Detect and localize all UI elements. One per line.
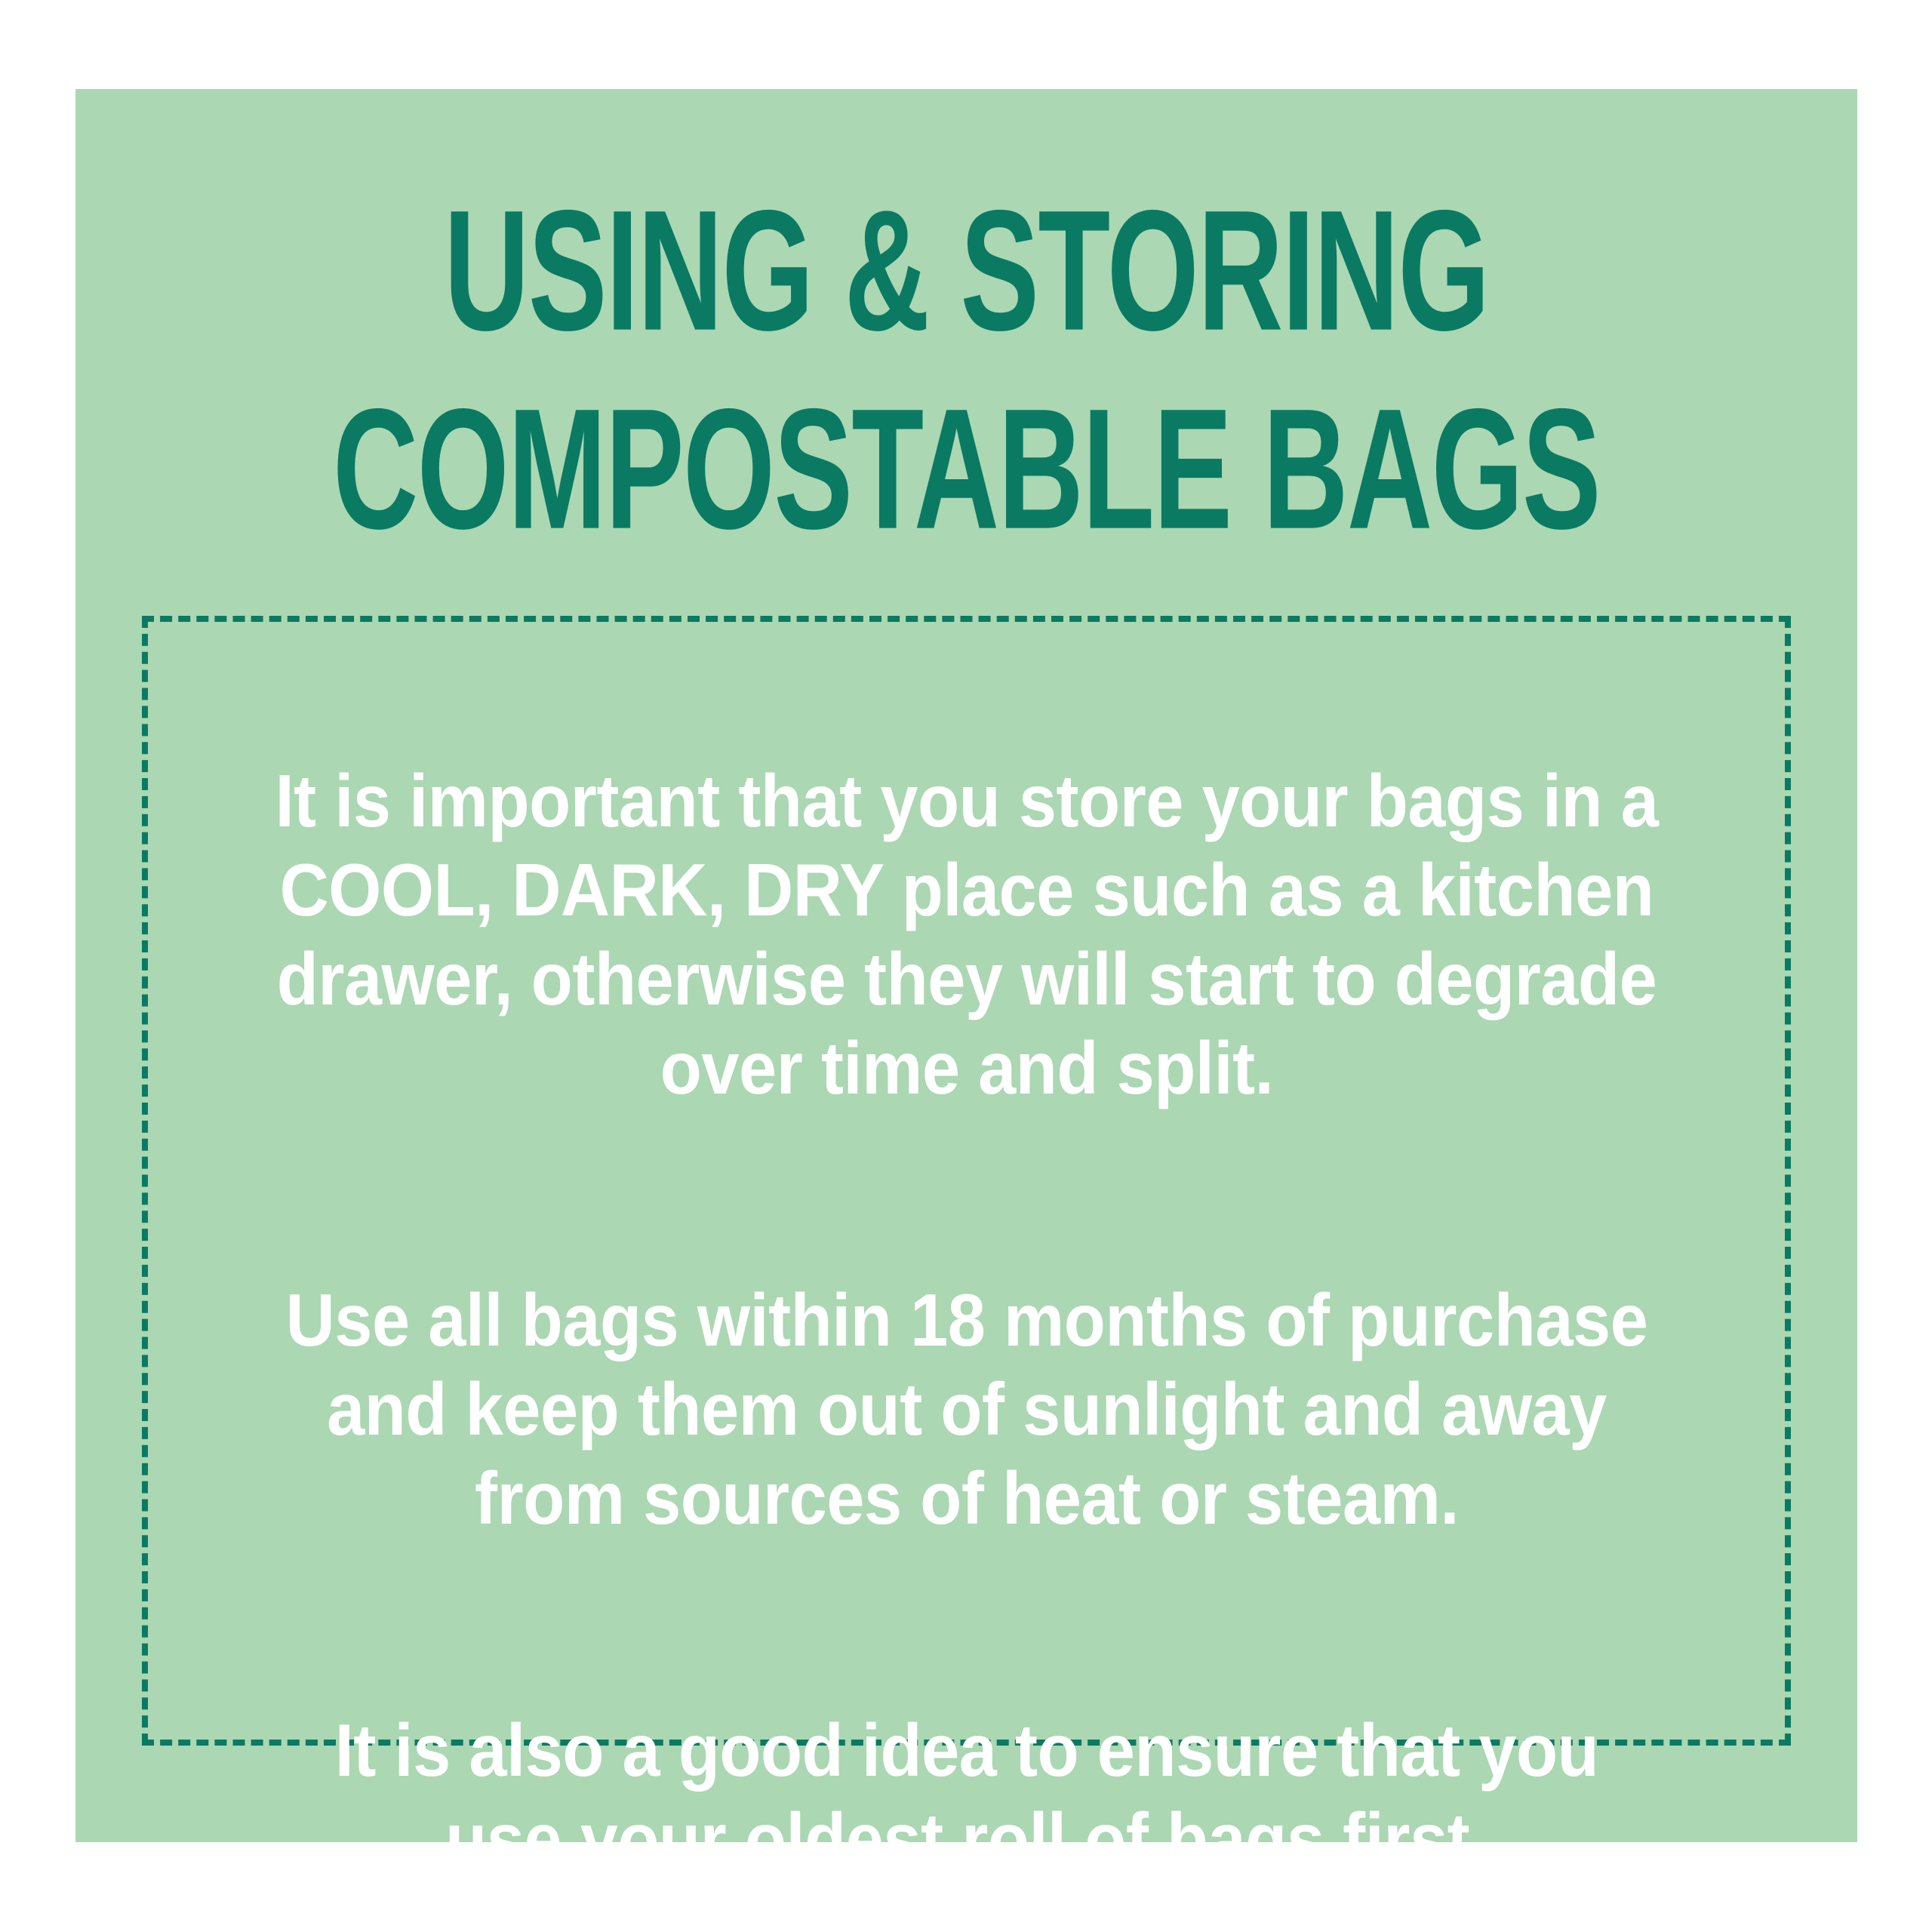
page-title: USING & STORING COMPOSTABLE BAGS — [75, 172, 1857, 568]
info-paragraph-2: Use all bags within 18 months of purchas… — [269, 1275, 1664, 1543]
info-paragraph-1: It is important that you store your bags… — [269, 756, 1664, 1112]
dashed-info-box: It is important that you store your bags… — [142, 616, 1791, 1746]
title-line-1: USING & STORING — [254, 156, 1679, 386]
info-paragraph-3: It is also a good idea to ensure that yo… — [269, 1706, 1664, 1884]
poster-canvas: USING & STORING COMPOSTABLE BAGS It is i… — [0, 0, 1932, 1932]
title-line-2: COMPOSTABLE BAGS — [254, 355, 1679, 585]
info-box-body: It is important that you store your bags… — [148, 622, 1785, 1740]
poster-panel: USING & STORING COMPOSTABLE BAGS It is i… — [75, 89, 1857, 1842]
